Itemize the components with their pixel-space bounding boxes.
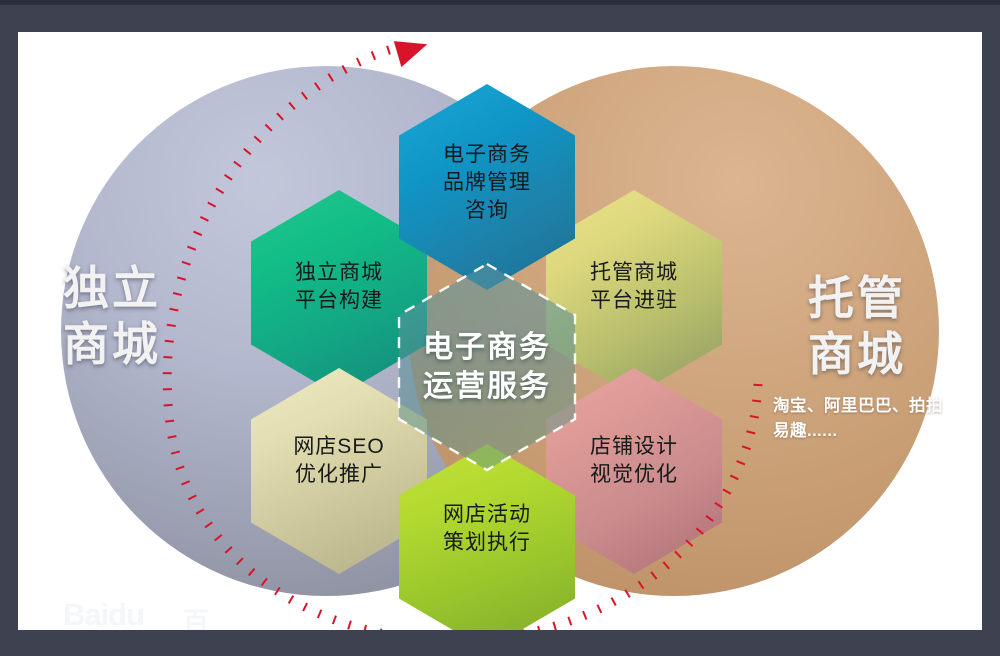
diagram-canvas: 独立 商城 托管 商城 淘宝、阿里巴巴、拍拍 易趣...... 独立商城 平台构… <box>18 32 982 630</box>
venn-sublabel-hosted-mall-platforms: 淘宝、阿里巴巴、拍拍 易趣...... <box>773 394 982 444</box>
paw-print-icon <box>845 572 931 614</box>
screenshot-root: 独立 商城 托管 商城 淘宝、阿里巴巴、拍拍 易趣...... 独立商城 平台构… <box>0 0 1000 656</box>
watermark-baidu-jingyan: Baidu 经验 jingyan.baidu.com <box>753 572 982 630</box>
hexagon-center-label: 电子商务 运营服务 <box>399 328 575 406</box>
watermark-baidu-baike: Baidu 百鹤 <box>63 597 144 630</box>
red-arrowhead-icon <box>394 35 431 68</box>
watermark-brand-cn: 经验 <box>901 594 965 630</box>
hexagon-top[interactable]: 电子商务 品牌管理 咨询 <box>399 84 575 290</box>
watermark-baike-brand: Baidu <box>63 597 144 630</box>
hexagon-bottom-face <box>399 444 575 630</box>
hexagon-center[interactable]: 电子商务 运营服务 <box>399 264 575 470</box>
hexagon-bottom[interactable]: 网店活动 策划执行 <box>399 444 575 630</box>
watermark-baike-cn: 百鹤 <box>183 602 209 630</box>
window-top-strip <box>0 0 1000 5</box>
watermark-brand-text: Baidu <box>773 588 876 630</box>
